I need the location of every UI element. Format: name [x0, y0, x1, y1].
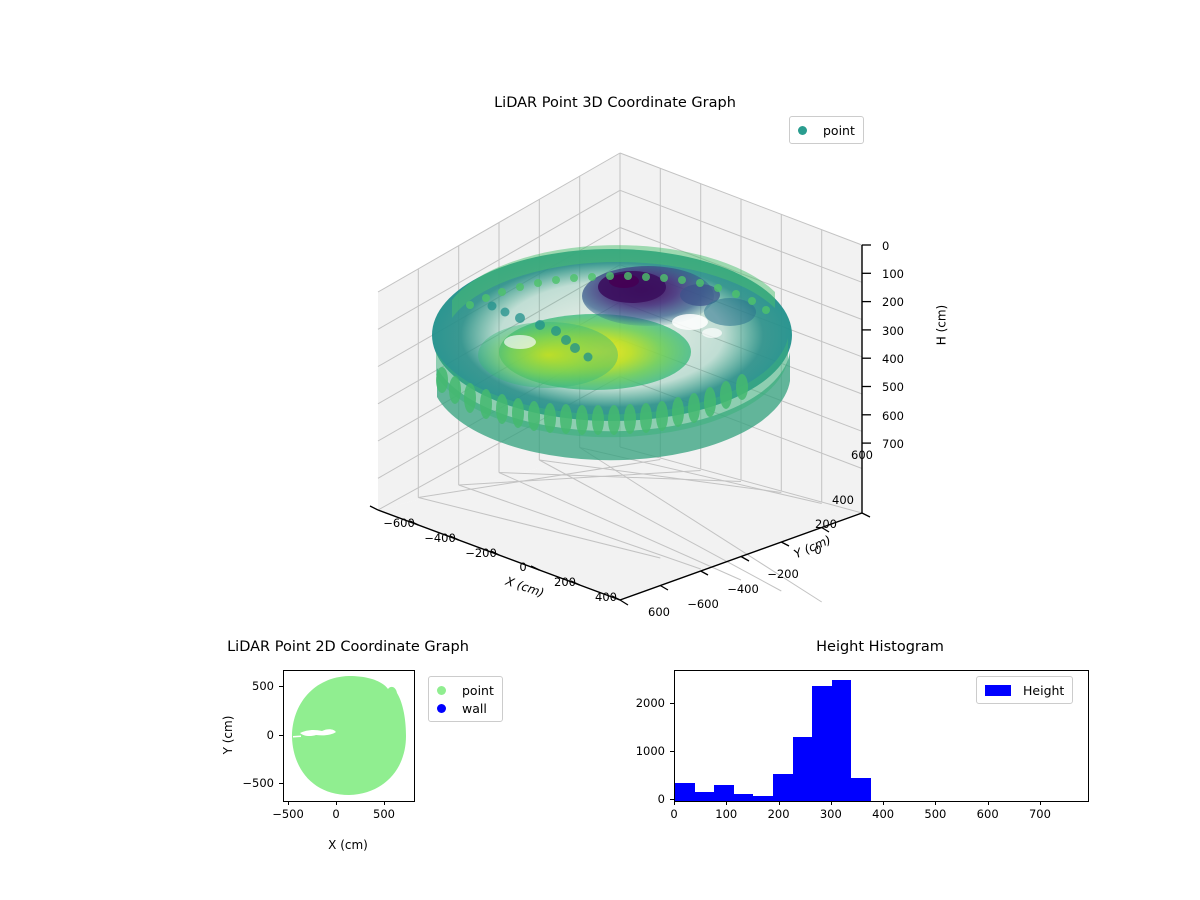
- ztick-3d-6: 600: [882, 409, 904, 423]
- ytick-hist-2: 2000: [636, 696, 665, 710]
- ytick-2d-2: −500: [242, 776, 274, 790]
- legend-item-height: Height: [985, 681, 1064, 699]
- histogram-bar: [714, 785, 734, 801]
- xtick-mark-hist-3: [831, 801, 832, 805]
- ytick-mark-2d-2: [279, 783, 283, 784]
- xtick-hist-7: 700: [1029, 807, 1051, 821]
- legend-label: point: [462, 683, 494, 698]
- ytick-2d-1: 0: [267, 728, 274, 742]
- xtick-mark-2d-2: [384, 801, 385, 805]
- ytick-3d-2: −200: [767, 567, 799, 581]
- xtick-hist-5: 500: [924, 807, 946, 821]
- legend-item-point: point: [437, 681, 494, 699]
- xtick-hist-6: 600: [977, 807, 999, 821]
- legend-2d[interactable]: point wall: [428, 676, 503, 722]
- ytick-3d-4: 200: [815, 517, 837, 531]
- xtick-3d-5: 400: [595, 590, 617, 604]
- ytick-mark-2d-1: [279, 735, 283, 736]
- histogram-bar: [734, 794, 754, 801]
- histogram-bar: [793, 737, 813, 801]
- xtick-3d-3: 0: [519, 560, 526, 574]
- ztick-3d-0: 0: [882, 239, 889, 253]
- histogram-bar: [773, 774, 793, 801]
- xtick-3d-6: 600: [648, 605, 670, 619]
- histogram-bar: [832, 680, 852, 801]
- chart-hist-title: Height Histogram: [816, 639, 944, 655]
- ztick-3d-2: 200: [882, 295, 904, 309]
- chart-2d-title: LiDAR Point 2D Coordinate Graph: [227, 639, 469, 655]
- xtick-mark-2d-1: [336, 801, 337, 805]
- legend-label: Height: [1023, 683, 1064, 698]
- scatter-2d-points: [284, 671, 414, 801]
- histogram-bar: [753, 796, 773, 801]
- histogram-bar: [695, 792, 715, 801]
- legend-label: wall: [462, 701, 487, 716]
- ztick-3d-7: 700: [882, 437, 904, 451]
- histogram-bar: [851, 778, 871, 801]
- xtick-hist-3: 300: [820, 807, 842, 821]
- wall-marker-icon: [437, 704, 446, 713]
- xtick-mark-2d-0: [288, 801, 289, 805]
- xtick-mark-hist-4: [883, 801, 884, 805]
- histogram-bar: [812, 686, 832, 801]
- xtick-mark-hist-2: [779, 801, 780, 805]
- ytick-hist-1: 1000: [636, 744, 665, 758]
- ytick-3d-0: −600: [687, 597, 719, 611]
- xtick-hist-2: 200: [768, 807, 790, 821]
- point-cloud-3d: [432, 245, 792, 460]
- ytick-mark-2d-0: [279, 686, 283, 687]
- xtick-2d-0: −500: [272, 807, 304, 821]
- ztick-3d-1: 100: [882, 267, 904, 281]
- ytick-2d-0: 500: [252, 679, 274, 693]
- ytick-3d-6: 600: [851, 448, 873, 462]
- ytick-mark-hist-1: [670, 751, 674, 752]
- matplotlib-figure: LiDAR Point 3D Coordinate Graph point: [0, 0, 1200, 900]
- ytick-mark-hist-2: [670, 703, 674, 704]
- ytick-3d-5: 400: [832, 493, 854, 507]
- yaxis-2d-label: Y (cm): [221, 716, 235, 755]
- zaxis-3d-label: H (cm): [934, 305, 948, 346]
- xtick-3d-4: 200: [554, 575, 576, 589]
- ytick-mark-hist-0: [670, 799, 674, 800]
- point-marker-icon: [437, 686, 446, 695]
- ytick-hist-0: 0: [658, 792, 665, 806]
- xtick-mark-hist-6: [988, 801, 989, 805]
- legend-item-wall: wall: [437, 699, 494, 717]
- xtick-mark-hist-7: [1040, 801, 1041, 805]
- xtick-2d-2: 500: [373, 807, 395, 821]
- xtick-mark-hist-1: [726, 801, 727, 805]
- xtick-3d-1: −400: [424, 531, 456, 545]
- legend-histogram[interactable]: Height: [976, 676, 1073, 704]
- height-patch-icon: [985, 685, 1011, 696]
- ytick-3d-1: −400: [727, 582, 759, 596]
- xtick-hist-0: 0: [670, 807, 677, 821]
- xaxis-2d-label: X (cm): [328, 838, 368, 852]
- xtick-mark-hist-0: [674, 801, 675, 805]
- xtick-hist-4: 400: [872, 807, 894, 821]
- xtick-mark-hist-5: [935, 801, 936, 805]
- xtick-3d-0: −600: [383, 516, 415, 530]
- histogram-bar: [675, 783, 695, 801]
- xtick-hist-1: 100: [715, 807, 737, 821]
- xtick-3d-2: −200: [465, 546, 497, 560]
- ztick-3d-4: 400: [882, 352, 904, 366]
- ztick-3d-5: 500: [882, 380, 904, 394]
- xtick-2d-1: 0: [332, 807, 339, 821]
- ztick-3d-3: 300: [882, 324, 904, 338]
- axes-2d-scatter[interactable]: [283, 670, 415, 802]
